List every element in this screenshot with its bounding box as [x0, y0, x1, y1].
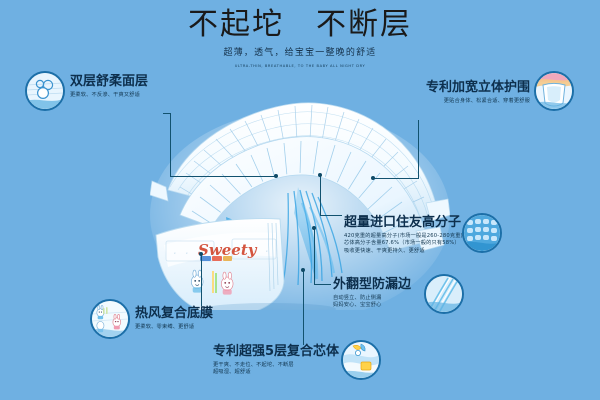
callout-title: 超量进口住友高分子 [344, 215, 463, 230]
connector-dot [199, 252, 203, 256]
callout-title: 双层舒柔面层 [70, 74, 148, 89]
connector-line [201, 254, 202, 306]
callout-polymer: 超量进口住友高分子 420克重的超量高分子(市场一般是260-280克重) 芯体… [344, 215, 463, 255]
connector-line [303, 270, 304, 345]
page-subtitle-cn: 超薄，透气，给宝宝一整晚的舒适 [0, 47, 600, 59]
callout-badge-five-layer-core[interactable] [341, 340, 381, 380]
callout-soft-surface: 双层舒柔面层 更柔软、不反渗、干爽又舒适 [70, 74, 148, 99]
callout-badge-soft-surface[interactable] [25, 71, 65, 111]
brand-logo: Sweety [198, 241, 258, 261]
callout-desc: 吸收更快速、干爽更持久、更舒适 [344, 248, 463, 255]
callout-title: 专利超强5层复合芯体 [213, 344, 339, 359]
callout-desc: 更柔软、零束缚、更舒适 [135, 324, 213, 331]
callout-badge-leak-guard[interactable] [424, 274, 464, 314]
leak-guard-icon [426, 276, 462, 312]
poster-header: 不起坨 不断层 超薄，透气，给宝宝一整晚的舒适 ULTRA-THIN, BREA… [0, 6, 600, 69]
soft-surface-icon [27, 73, 63, 109]
connector-dot [371, 176, 375, 180]
connector-line [314, 228, 315, 284]
connector-line [170, 113, 171, 176]
callout-desc: 更柔软、不反渗、干爽又舒适 [70, 92, 148, 99]
callout-five-layer-core: 专利超强5层复合芯体 更干爽、不走位、不起坨、不断层 超吸湿、超舒适 [213, 344, 339, 377]
connector-line [170, 176, 277, 177]
callout-wide-guard: 专利加宽立体护围 更贴合身体、松紧合适、穿着更舒服 [345, 80, 530, 105]
polymer-grid-icon [464, 215, 500, 251]
connector-line [320, 175, 321, 215]
page-subtitle-en: ULTRA-THIN, BREATHABLE, TO THE BABY ALL … [0, 63, 600, 69]
callout-badge-polymer[interactable] [462, 213, 502, 253]
callout-title: 专利加宽立体护围 [345, 80, 530, 95]
connector-line [314, 284, 331, 285]
connector-dot [274, 174, 278, 178]
five-layer-core-icon [343, 342, 379, 378]
layer-front-panel: xxx xxx Sweety [156, 219, 284, 310]
callout-bottom-film: 热风复合底膜 更柔软、零束缚、更舒适 [135, 306, 213, 331]
callout-desc: 更贴合身体、松紧合适、穿着更舒服 [345, 98, 530, 105]
connector-line [418, 120, 419, 178]
callout-desc: 超吸湿、超舒适 [213, 369, 339, 376]
callout-badge-wide-guard[interactable] [534, 71, 574, 111]
callout-desc: 妈妈安心、宝宝舒心 [333, 302, 411, 309]
callout-desc: 芯体高分子含量67.6%（市场一般的只有58%） [344, 240, 463, 247]
poster-canvas: 不起坨 不断层 超薄，透气，给宝宝一整晚的舒适 ULTRA-THIN, BREA… [0, 0, 600, 400]
connector-line [320, 215, 342, 216]
callout-badge-bottom-film[interactable] [90, 299, 130, 339]
callout-title: 热风复合底膜 [135, 306, 213, 321]
wide-guard-icon [536, 73, 572, 109]
connector-dot [301, 268, 305, 272]
connector-dot [318, 173, 322, 177]
page-title: 不起坨 不断层 [0, 6, 600, 44]
connector-dot [312, 226, 316, 230]
connector-line [374, 178, 419, 179]
callout-title: 外翻型防漏边 [333, 277, 411, 292]
bottom-film-icon [92, 301, 128, 337]
callout-leak-guard: 外翻型防漏边 自动竖立、防止侧漏 妈妈安心、宝宝舒心 [333, 277, 411, 310]
